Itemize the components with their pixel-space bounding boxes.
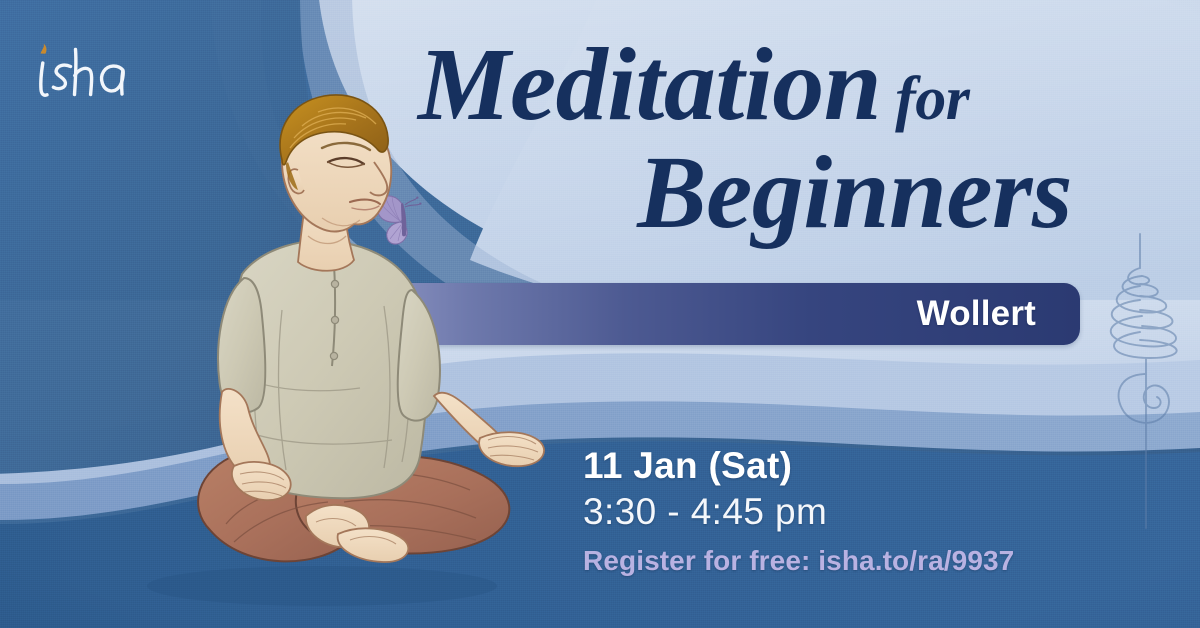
event-time: 3:30 - 4:45 pm	[583, 489, 1183, 535]
headline-small-word: for	[895, 65, 969, 133]
registration-link[interactable]: Register for free: isha.to/ra/9937	[583, 545, 1183, 577]
spiral-coil-motif	[1096, 228, 1200, 558]
promo-poster: Meditationfor Beginners Wollert 11 Jan (…	[0, 0, 1200, 628]
meditating-man-illustration	[92, 78, 562, 628]
event-date: 11 Jan (Sat)	[583, 445, 1183, 487]
event-details: 11 Jan (Sat) 3:30 - 4:45 pm Register for…	[583, 445, 1183, 577]
location-label: Wollert	[917, 294, 1036, 334]
